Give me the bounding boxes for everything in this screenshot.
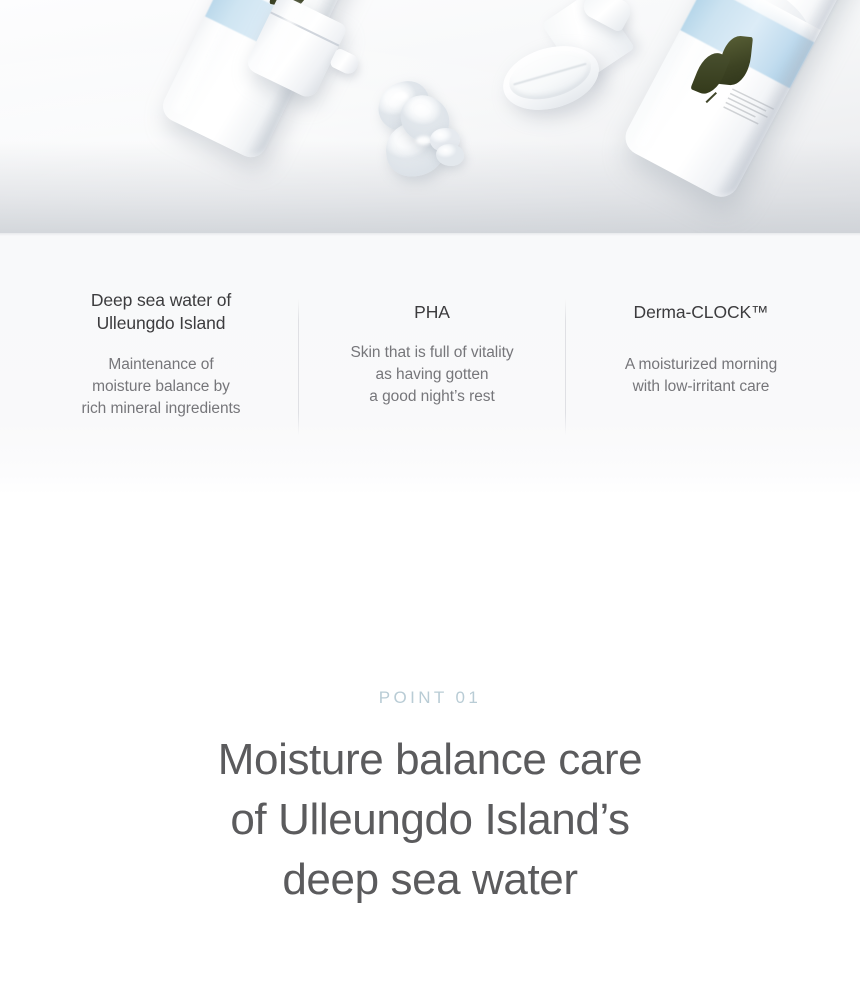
cream-highlight [394, 92, 408, 100]
point-section: POINT 01 Moisture balance care of Ulleun… [0, 495, 860, 1001]
feature-title: Derma-CLOCK™ [572, 301, 830, 324]
cream-dollop-secondary [430, 128, 466, 168]
feature-description: Maintenance of moisture balance by rich … [30, 354, 292, 420]
feature-divider [298, 299, 299, 435]
feature-title: Deep sea water of Ulleungdo Island [30, 289, 292, 336]
product-detail-page: Deep sea water of Ulleungdo Island Maint… [0, 0, 860, 1001]
leaf-stem [706, 92, 717, 103]
hero-product-photo [0, 0, 860, 233]
cream-lobe [436, 144, 464, 166]
feature-column-deep-sea-water: Deep sea water of Ulleungdo Island Maint… [30, 289, 292, 420]
feature-description: A moisturized morning with low-irritant … [572, 354, 830, 398]
point-heading: Moisture balance care of Ulleungdo Islan… [0, 730, 860, 909]
feature-title: PHA [305, 301, 559, 324]
feature-column-derma-clock: Derma-CLOCK™ A moisturized morning with … [572, 301, 830, 398]
feature-description: Skin that is full of vitality as having … [305, 342, 559, 408]
features-band: Deep sea water of Ulleungdo Island Maint… [0, 233, 860, 495]
feature-column-pha: PHA Skin that is full of vitality as hav… [305, 301, 559, 408]
feature-divider [565, 299, 566, 435]
point-kicker: POINT 01 [0, 688, 860, 708]
